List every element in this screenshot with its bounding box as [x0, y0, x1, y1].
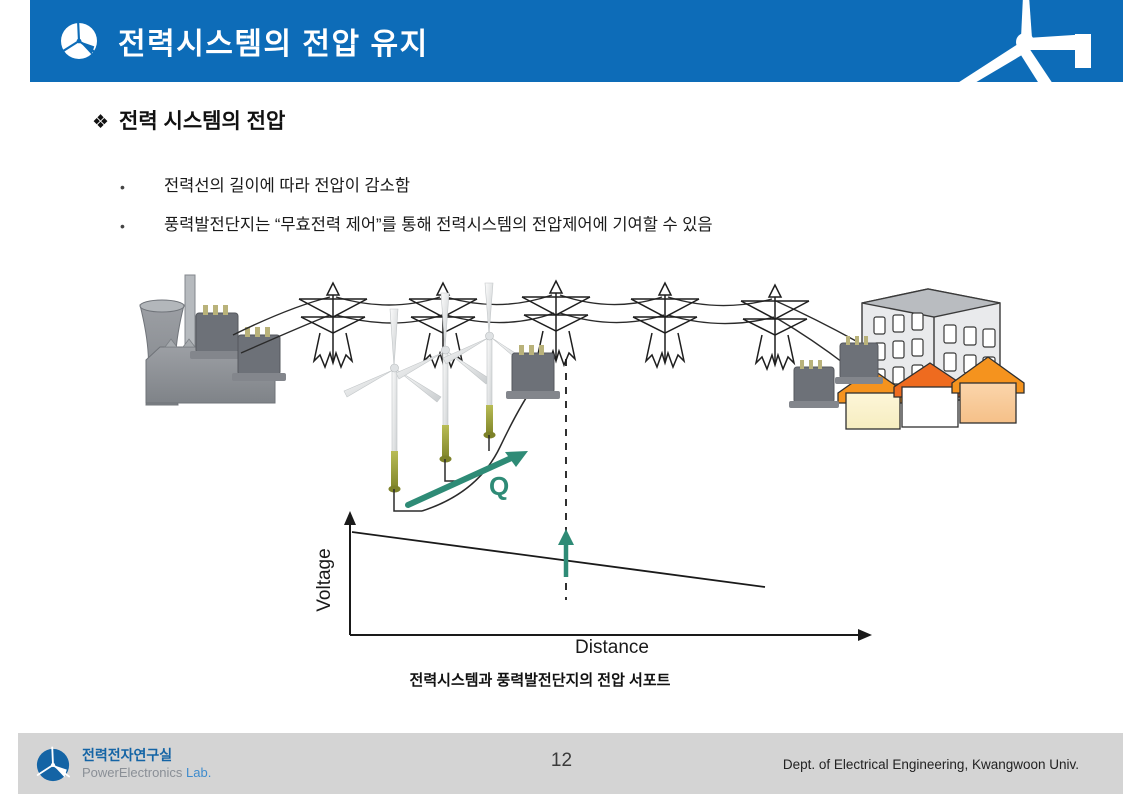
- transformer-icon: [789, 360, 839, 408]
- bullet-marker-icon: •: [120, 179, 164, 195]
- chart-y-axis-arrow-icon: [344, 511, 356, 525]
- page-title: 전력시스템의 전압 유지: [118, 19, 429, 63]
- diamond-bullet-icon: ❖: [92, 112, 109, 133]
- wind-turbine-icon: [344, 309, 441, 493]
- reactive-power-arrow-icon: [408, 451, 528, 505]
- power-system-diagram: Q Voltage Distance 전력시스템과 풍력발전단지의 전압 서포트: [0, 255, 1123, 705]
- transformer-icon: [506, 345, 560, 399]
- wind-turbine-graphic-icon: [949, 0, 1109, 82]
- bullet-item-1: •전력선의 길이에 따라 전압이 감소함: [120, 172, 410, 196]
- transformer-icon: [190, 305, 244, 359]
- bullet-item-2-label: 풍력발전단지는 “무효전력 제어”를 통해 전력시스템의 전압제어에 기여할 수…: [164, 216, 713, 234]
- transformer-icon: [232, 327, 286, 381]
- voltage-support-arrow-icon: [558, 529, 574, 577]
- section-heading: ❖전력 시스템의 전압: [92, 105, 285, 135]
- chart-x-axis-label: Distance: [575, 637, 649, 658]
- chart-y-axis-label: Voltage: [314, 548, 335, 611]
- bullet-marker-icon: •: [120, 218, 164, 234]
- section-heading-label: 전력 시스템의 전압: [119, 110, 285, 133]
- footer-department: Dept. of Electrical Engineering, Kwangwo…: [783, 757, 1079, 772]
- bullet-item-1-label: 전력선의 길이에 따라 전압이 감소함: [164, 177, 410, 195]
- reactive-power-label: Q: [489, 471, 509, 501]
- diagram-caption: 전력시스템과 풍력발전단지의 전압 서포트: [410, 671, 671, 689]
- collector-cable: [394, 383, 536, 511]
- slide-header-bar: 전력시스템의 전압 유지: [30, 0, 1123, 82]
- voltage-distance-chart: Voltage Distance: [314, 511, 872, 658]
- chart-x-axis-arrow-icon: [858, 629, 872, 641]
- chart-voltage-line: [352, 532, 765, 587]
- wind-turbine-circle-logo-icon: [52, 14, 106, 68]
- transformer-icon: [835, 336, 883, 384]
- bullet-item-2: •풍력발전단지는 “무효전력 제어”를 통해 전력시스템의 전압제어에 기여할 …: [120, 211, 713, 235]
